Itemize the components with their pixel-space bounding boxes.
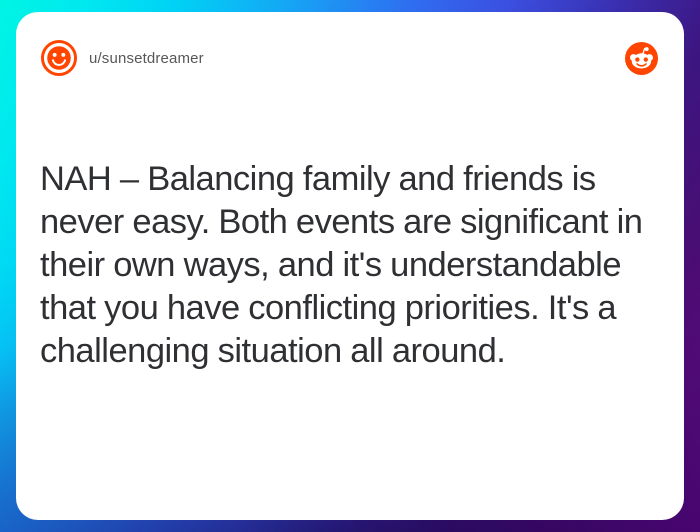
reddit-snoo-logo-icon[interactable] xyxy=(625,42,658,75)
reddit-comment-card: u/sunsetdreamer xyxy=(16,12,684,520)
author-block[interactable]: u/sunsetdreamer xyxy=(40,39,204,77)
comment-text: NAH – Balancing family and friends is ne… xyxy=(40,158,660,373)
author-username: u/sunsetdreamer xyxy=(89,50,204,67)
card-header: u/sunsetdreamer xyxy=(16,12,684,104)
smiley-face-avatar-icon xyxy=(40,39,78,77)
card-body: NAH – Balancing family and friends is ne… xyxy=(40,158,660,373)
screenshot-stage: u/sunsetdreamer xyxy=(0,0,700,532)
